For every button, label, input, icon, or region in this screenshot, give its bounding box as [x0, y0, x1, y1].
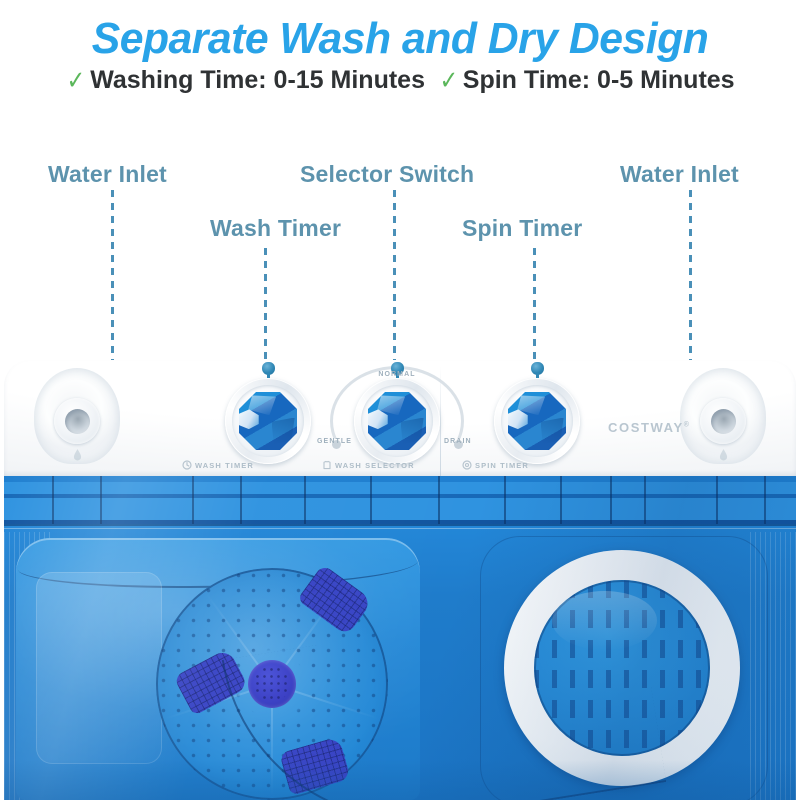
knob-indicator-dot — [262, 362, 275, 375]
timer-icon — [182, 460, 192, 470]
printed-label-spin-timer: SPIN TIMER — [462, 460, 529, 470]
control-panel: NORMAL GENTLE DRAIN WASH TIMER WASH SELE… — [4, 360, 796, 482]
knob-gem-face — [239, 392, 297, 450]
knob-gem-face — [368, 392, 426, 450]
body-strut — [644, 476, 646, 524]
page-title: Separate Wash and Dry Design — [12, 16, 788, 62]
spin-timer-knob[interactable] — [494, 378, 580, 464]
selector-position-drain: DRAIN — [444, 438, 472, 445]
body-strut — [52, 476, 54, 524]
printed-label-wash-selector-text: WASH SELECTOR — [335, 461, 415, 470]
feature-item-spin-time: ✓Spin Time: 0-5 Minutes — [438, 64, 735, 95]
body-strut — [240, 476, 242, 524]
feature-item-washing-time: ✓Washing Time: 0-15 Minutes — [65, 64, 425, 95]
callout-label-spin-timer: Spin Timer — [462, 215, 582, 242]
check-icon: ✓ — [440, 65, 459, 96]
knob-gem-facet-highlight — [368, 409, 388, 429]
spin-icon — [462, 460, 472, 470]
body-strut — [370, 476, 372, 524]
check-icon: ✓ — [67, 65, 86, 96]
brand-registered-mark: ® — [684, 422, 691, 429]
body-strut — [304, 476, 306, 524]
spin-basket-highlight — [552, 591, 658, 651]
callout-label-wash-timer: Wash Timer — [210, 215, 341, 242]
body-strut — [764, 476, 766, 524]
body-strut — [716, 476, 718, 524]
spin-basket-interior — [534, 580, 710, 756]
body-rim-line — [4, 524, 796, 526]
selector-position-gentle: GENTLE — [317, 438, 352, 445]
body-strut — [504, 476, 506, 524]
inlet-ring-right — [700, 398, 746, 444]
water-inlet-port-left — [34, 368, 120, 464]
brand-logo: COSTWAY® — [608, 420, 691, 435]
water-drop-icon-right — [719, 448, 728, 460]
washing-machine-product-image: NORMAL GENTLE DRAIN WASH TIMER WASH SELE… — [4, 360, 796, 800]
machine-body — [4, 476, 796, 800]
body-strut — [192, 476, 194, 524]
inlet-hole-left — [65, 409, 90, 434]
body-strut — [560, 476, 562, 524]
printed-label-wash-timer: WASH TIMER — [182, 460, 254, 470]
printed-label-wash-timer-text: WASH TIMER — [195, 461, 254, 470]
inlet-hole-right — [711, 409, 736, 434]
knob-gem-face — [508, 392, 566, 450]
printed-label-spin-timer-text: SPIN TIMER — [475, 461, 529, 470]
product-infographic: Separate Wash and Dry Design ✓Washing Ti… — [0, 0, 800, 800]
wash-selector-knob[interactable] — [354, 378, 440, 464]
tub-inner-reflection — [36, 572, 162, 764]
water-drop-icon-left — [73, 448, 82, 460]
spin-time-text: Spin Time: 0-5 Minutes — [463, 66, 735, 94]
wash-timer-knob[interactable] — [225, 378, 311, 464]
body-rim-highlight — [4, 528, 796, 529]
printed-label-wash-selector: WASH SELECTOR — [322, 460, 415, 470]
washing-time-text: Washing Time: 0-15 Minutes — [90, 66, 425, 94]
body-strut — [100, 476, 102, 524]
selector-position-normal: NORMAL — [354, 371, 440, 378]
feature-subtitle: ✓Washing Time: 0-15 Minutes✓Spin Time: 0… — [0, 64, 800, 95]
callout-label-water-inlet-left: Water Inlet — [48, 161, 167, 188]
callout-label-water-inlet-right: Water Inlet — [620, 161, 739, 188]
body-strut — [610, 476, 612, 524]
callout-label-selector-switch: Selector Switch — [300, 161, 474, 188]
water-inlet-port-right — [680, 368, 766, 464]
pulsator-hub — [248, 660, 296, 708]
knob-indicator-dot — [531, 362, 544, 375]
body-bottom-shadow — [4, 760, 796, 800]
knob-gem-facet-highlight — [508, 409, 528, 429]
shirt-icon — [322, 460, 332, 470]
brand-name: COSTWAY — [608, 420, 684, 435]
spin-dryer-basket — [504, 550, 740, 786]
knob-gem-facet-highlight — [239, 409, 259, 429]
body-strut — [438, 476, 440, 524]
inlet-ring-left — [54, 398, 100, 444]
